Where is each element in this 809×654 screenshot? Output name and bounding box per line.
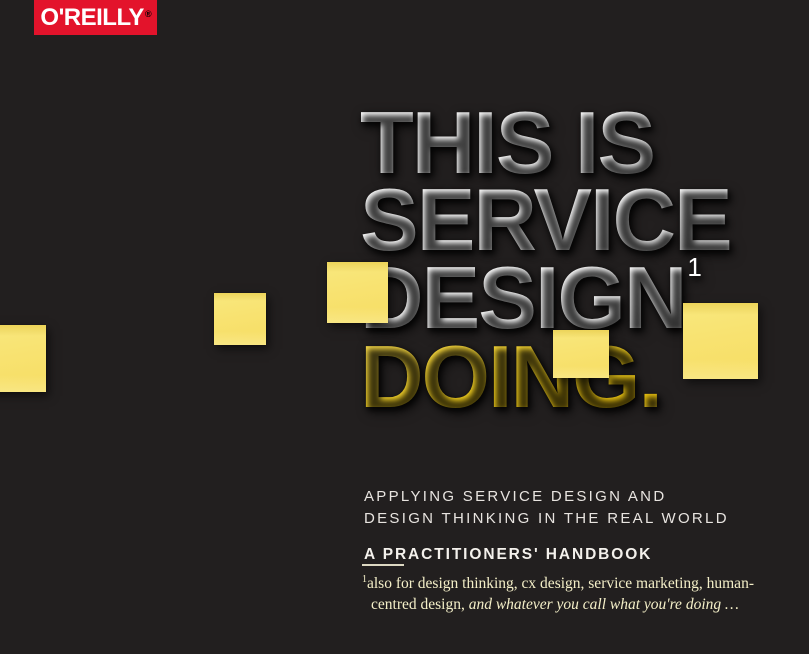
- subtitle-line-1: APPLYING SERVICE DESIGN AND: [364, 486, 729, 508]
- footnote-text: 1also for design thinking, cx design, se…: [362, 573, 762, 616]
- oreilly-logo: O'REILLY®: [34, 0, 157, 35]
- footnote-text-line-2-italic: and whatever you call what you're doing …: [469, 596, 739, 613]
- sticky-note-right: [683, 303, 758, 379]
- book-cover: O'REILLY® THIS IS SERVICE DESIGN1 DOING.…: [0, 0, 809, 654]
- sticky-note-small: [214, 293, 266, 345]
- title-footnote-superscript: 1: [687, 252, 701, 282]
- sticky-note-left: [0, 325, 46, 392]
- sticky-note-design: [327, 262, 388, 323]
- footnote-text-line-1: also for design thinking, cx design, ser…: [367, 575, 754, 592]
- sticky-note-doing: [553, 330, 609, 378]
- footnote-text-line-2-roman: centred design,: [371, 596, 469, 613]
- book-subtitle: APPLYING SERVICE DESIGN AND DESIGN THINK…: [364, 486, 729, 564]
- footnote-rule: [362, 564, 404, 566]
- subtitle-kicker: A PRACTITIONERS' HANDBOOK: [364, 530, 729, 564]
- oreilly-wordmark: O'REILLY: [40, 6, 144, 30]
- subtitle-line-2: DESIGN THINKING IN THE REAL WORLD: [364, 508, 729, 530]
- registered-trademark-icon: ®: [145, 9, 152, 19]
- footnote: 1also for design thinking, cx design, se…: [362, 564, 762, 616]
